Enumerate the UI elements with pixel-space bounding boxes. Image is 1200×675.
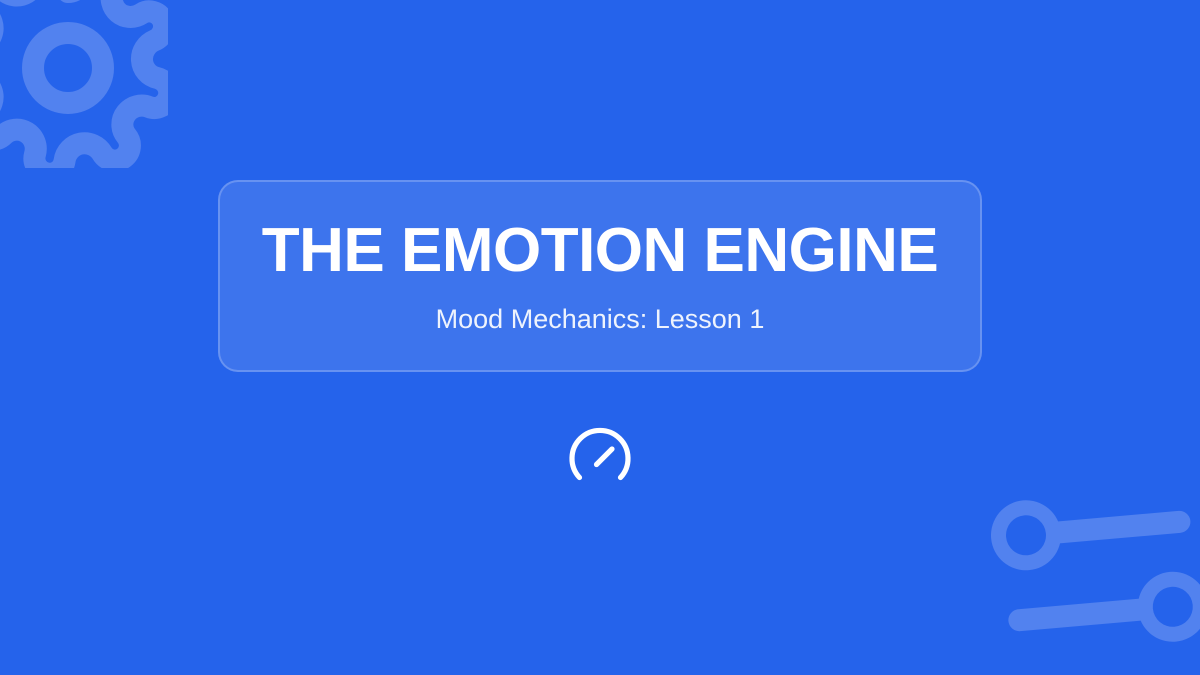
page-title: THE EMOTION ENGINE <box>262 218 938 283</box>
sliders-icon <box>985 478 1200 675</box>
title-card: THE EMOTION ENGINE Mood Mechanics: Lesso… <box>218 180 982 372</box>
title-slide: THE EMOTION ENGINE Mood Mechanics: Lesso… <box>0 0 1200 675</box>
gear-icon <box>0 0 168 168</box>
page-subtitle: Mood Mechanics: Lesson 1 <box>436 305 765 335</box>
gauge-icon <box>565 424 635 494</box>
